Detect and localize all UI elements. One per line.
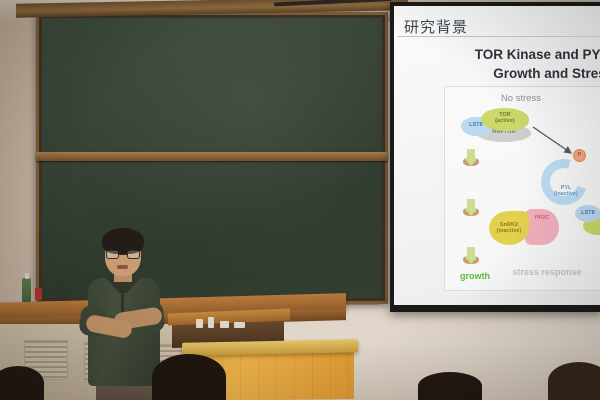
pointer-stick <box>274 0 392 6</box>
pp2c-label: PP2C <box>525 215 559 221</box>
blackboard-divider-rail <box>36 152 388 161</box>
pyl-name: PYL <box>561 185 571 191</box>
desk-items <box>196 316 248 328</box>
glasses-lens-left <box>106 250 119 259</box>
snrk2-name: SnRK2 <box>500 222 518 228</box>
desk-item <box>208 317 214 328</box>
tor-name: TOR <box>499 112 511 118</box>
projection-screen: 研究背景 TOR Kinase and PYL Phos Growth and … <box>390 2 600 312</box>
phosphorylation-arrow-icon <box>531 125 579 159</box>
slide-header: 研究背景 <box>404 16 600 44</box>
glasses-icon <box>106 250 140 259</box>
desk-item <box>220 321 229 328</box>
phosphate-group: P <box>573 149 586 162</box>
pyl-state: (inactive) <box>554 191 578 197</box>
snrk2-state: (inactive) <box>497 228 522 234</box>
tor-state: (active) <box>495 118 515 124</box>
desk-item <box>196 319 203 328</box>
slide-kicker: 研究背景 <box>404 16 600 37</box>
growth-outcome-label: growth <box>451 271 499 281</box>
lst8-protein-secondary: LST8 <box>575 205 600 222</box>
slide-header-rule <box>398 36 600 37</box>
audience-head <box>152 354 226 400</box>
tor-label: TOR (active) <box>481 112 529 124</box>
arrow-head <box>463 255 479 264</box>
glasses-bridge <box>119 254 127 255</box>
glasses-lens-right <box>127 250 140 259</box>
arrow-head <box>463 207 479 216</box>
presenter-mouth <box>117 265 128 269</box>
tor-protein: TOR (active) <box>481 108 529 131</box>
arrow-head <box>463 157 479 166</box>
water-bottle <box>22 278 31 302</box>
presenter-placket <box>121 286 124 312</box>
audience-head <box>548 362 600 400</box>
snrk2-label: SnRK2 (inactive) <box>489 222 529 234</box>
lecture-hall-scene: 研究背景 TOR Kinase and PYL Phos Growth and … <box>0 0 600 400</box>
slide-content: 研究背景 TOR Kinase and PYL Phos Growth and … <box>394 6 600 305</box>
stress-response-outcome-label: stress response <box>509 267 585 278</box>
pathway-diagram: No stress RAPTOR LST8 TOR (active) <box>444 86 600 291</box>
condition-label: No stress <box>445 93 597 104</box>
audience-head <box>0 366 44 400</box>
slide-title-line-1: TOR Kinase and PYL Phos <box>410 46 600 65</box>
audience-head <box>418 372 482 400</box>
pyl-label: PYL (inactive) <box>545 185 587 198</box>
slide-title: TOR Kinase and PYL Phos Growth and Stres… <box>410 46 600 83</box>
pyl-protein <box>533 151 595 213</box>
slide-title-line-2: Growth and Stress R <box>410 65 600 84</box>
pp2c-protein: PP2C <box>525 209 559 245</box>
snrk2-protein: SnRK2 (inactive) <box>489 211 529 245</box>
desk-item <box>234 322 245 328</box>
red-cup <box>35 288 42 300</box>
lst8-label-secondary: LST8 <box>575 210 600 216</box>
